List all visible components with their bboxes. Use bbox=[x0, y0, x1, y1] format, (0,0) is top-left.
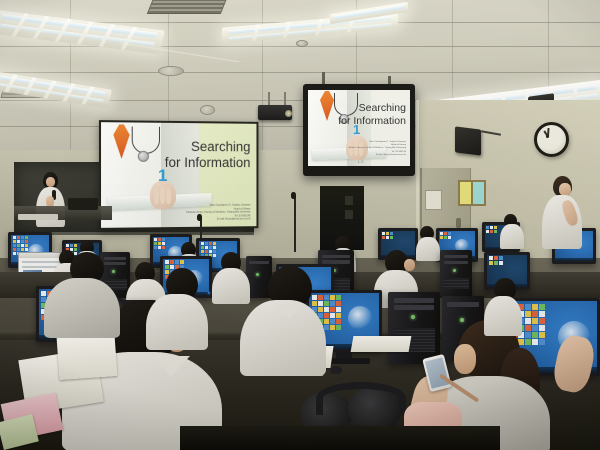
ceiling-speaker bbox=[296, 40, 308, 47]
face bbox=[404, 259, 415, 271]
stethoscope-tube bbox=[132, 127, 160, 154]
slide-credit-line: E-mail: library@med.cmu.ac.th bbox=[186, 218, 250, 222]
uniform bbox=[146, 294, 208, 350]
slide-title-line-2: for Information bbox=[165, 155, 251, 172]
face bbox=[454, 344, 476, 374]
desk-front-edge bbox=[180, 426, 500, 450]
microphone-head-icon bbox=[197, 214, 202, 221]
slide-title: Searching for Information bbox=[338, 102, 406, 128]
projector-mount bbox=[284, 92, 286, 106]
student-standing-right bbox=[540, 176, 584, 250]
student-center bbox=[240, 266, 328, 374]
printout-handout[interactable] bbox=[57, 334, 118, 380]
slide-title-line-2: for Information bbox=[338, 115, 406, 128]
finger bbox=[154, 189, 159, 204]
student-right-mid bbox=[484, 278, 524, 334]
back-equipment bbox=[18, 214, 58, 220]
door-window-pane bbox=[345, 210, 353, 219]
phone-screen[interactable] bbox=[424, 357, 449, 389]
student-back-right-2 bbox=[500, 214, 524, 248]
notice-sheet bbox=[473, 182, 484, 204]
notice-sheet bbox=[460, 182, 471, 204]
door-notice bbox=[425, 190, 442, 210]
desktop-pc-tower[interactable] bbox=[440, 250, 472, 298]
projected-slide: 1 Searching for Information Miss Chonlap… bbox=[101, 122, 256, 228]
presenter-face bbox=[46, 177, 55, 187]
mouse[interactable] bbox=[330, 366, 342, 374]
photo-scene: 1 Searching for Information Miss Chonlap… bbox=[0, 0, 600, 450]
wall-mounted-tv: 1 Searching for Information Miss Chonlap… bbox=[303, 84, 415, 176]
door-window-pane bbox=[345, 196, 353, 205]
student-center-left bbox=[146, 268, 210, 348]
ceiling-light-fixture bbox=[0, 10, 165, 54]
uniform bbox=[44, 278, 120, 338]
student-back-right bbox=[416, 226, 440, 260]
finger bbox=[166, 188, 171, 204]
door-handle[interactable] bbox=[456, 218, 461, 228]
taskbar[interactable] bbox=[555, 258, 593, 261]
notice-board bbox=[458, 180, 486, 206]
tv-slide-content: 1 Searching for Information Miss Chonlap… bbox=[308, 90, 410, 166]
slide-title: Searching for Information bbox=[165, 139, 251, 172]
microphone-stand bbox=[294, 196, 296, 252]
uniform bbox=[484, 296, 522, 336]
stethoscope-bell bbox=[138, 151, 149, 162]
ceiling-light-fixture bbox=[0, 71, 112, 108]
smoke-detector-icon bbox=[158, 66, 184, 76]
student-mid-left-2 bbox=[44, 252, 122, 336]
ceiling-speaker bbox=[200, 105, 215, 115]
wall-speaker bbox=[455, 126, 481, 155]
uniform bbox=[500, 224, 524, 249]
tv-brand-label: LG bbox=[358, 159, 364, 164]
ceiling-vent bbox=[147, 0, 227, 14]
slide-credit-block: Miss Chonlaporn P., Subject Librarian He… bbox=[349, 141, 406, 157]
finger bbox=[160, 187, 165, 204]
projector-lens bbox=[285, 110, 292, 117]
slide-credit-block: Miss Chonlaporn P., Subject Librarian He… bbox=[186, 203, 250, 221]
slide-title-line-1: Searching bbox=[338, 102, 406, 115]
handout-papers[interactable] bbox=[351, 336, 412, 352]
back-equipment bbox=[68, 198, 98, 210]
wall-clock bbox=[534, 122, 569, 157]
slide-title-line-1: Searching bbox=[165, 139, 251, 156]
slide-credit-line: E-mail: library@med.cmu.ac.th bbox=[349, 154, 406, 157]
microphone-head-icon bbox=[291, 192, 296, 199]
projector-mount bbox=[268, 92, 270, 106]
uniform bbox=[416, 237, 440, 261]
clock-center-pin bbox=[546, 135, 549, 138]
projection-screen: 1 Searching for Information Miss Chonlap… bbox=[99, 120, 258, 230]
windows-logo bbox=[348, 306, 372, 330]
